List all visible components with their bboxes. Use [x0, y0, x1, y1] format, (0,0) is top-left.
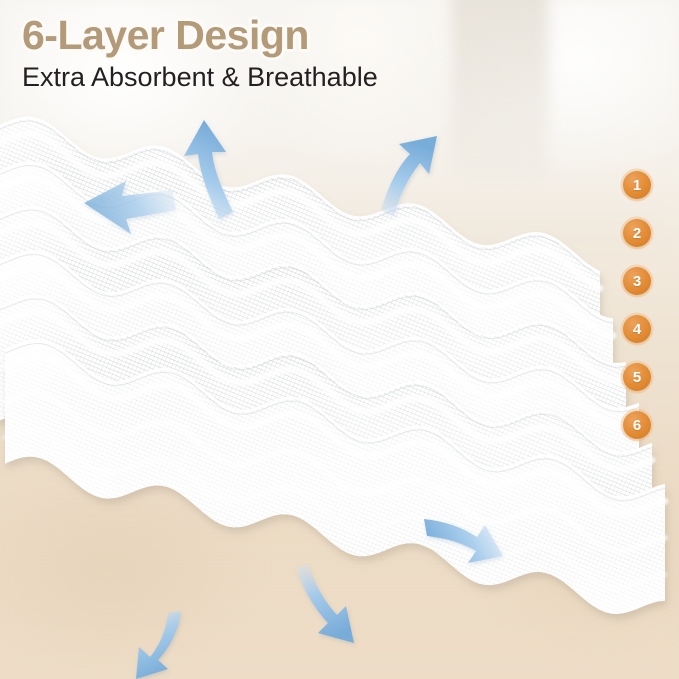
- page-subtitle: Extra Absorbent & Breathable: [22, 63, 378, 93]
- layer-badge-label: 6: [633, 418, 641, 433]
- layer-badge-label: 3: [633, 274, 641, 289]
- layer-badge-6[interactable]: 6: [623, 411, 651, 439]
- layer-badge-label: 4: [633, 322, 641, 337]
- layer-badge-column: 1 2 3 4 5 6: [623, 171, 655, 459]
- layer-badge-5[interactable]: 5: [623, 363, 651, 391]
- fabric-layer-stack: [0, 0, 679, 679]
- page-title: 6-Layer Design: [22, 14, 378, 57]
- layer-badge-3[interactable]: 3: [623, 267, 651, 295]
- infographic-canvas: 6-Layer Design Extra Absorbent & Breatha…: [0, 0, 679, 679]
- layer-badge-1[interactable]: 1: [623, 171, 651, 199]
- layer-badge-label: 1: [633, 178, 641, 193]
- layer-badge-label: 2: [633, 226, 641, 241]
- headline-block: 6-Layer Design Extra Absorbent & Breatha…: [22, 14, 378, 93]
- layer-badge-label: 5: [633, 370, 641, 385]
- layer-badge-4[interactable]: 4: [623, 315, 651, 343]
- layer-badge-2[interactable]: 2: [623, 219, 651, 247]
